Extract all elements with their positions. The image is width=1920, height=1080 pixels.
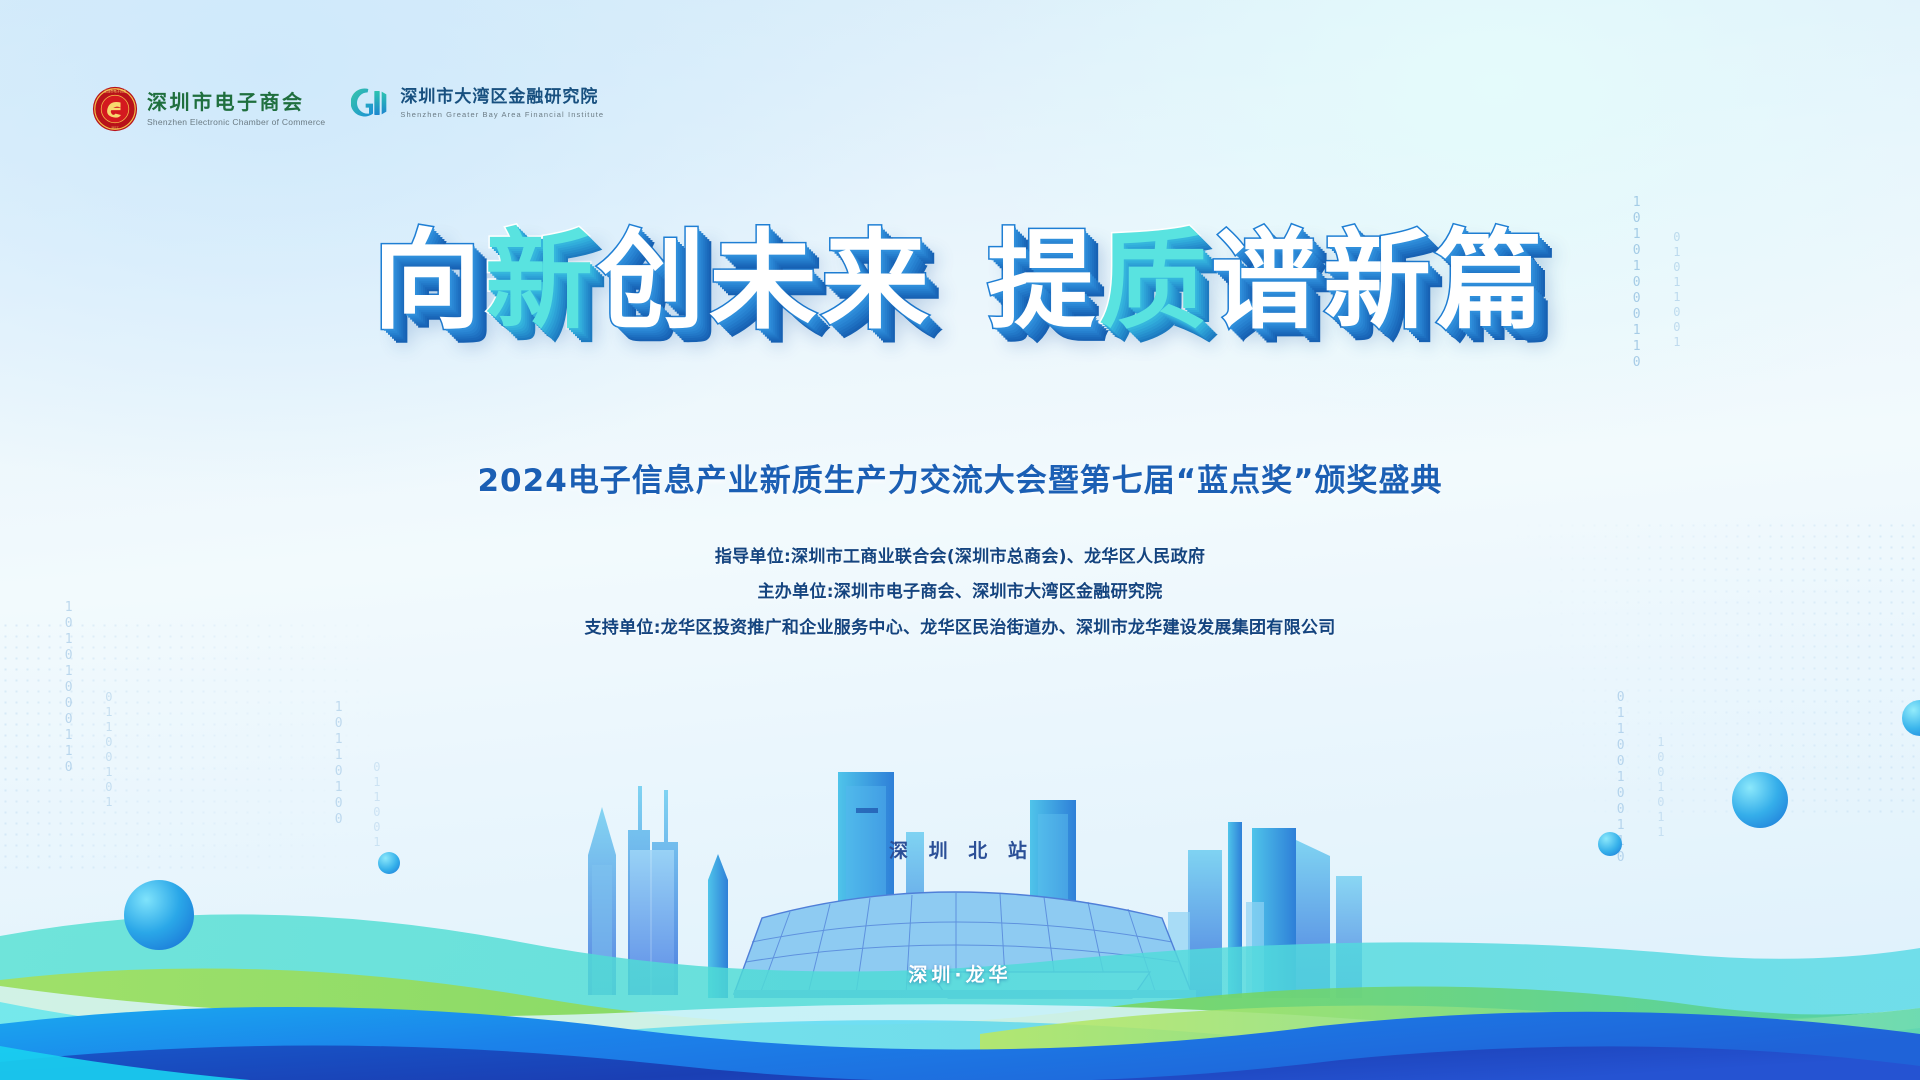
headline-segment-3: 创未来 (597, 228, 933, 336)
skyline-wave-illustration (0, 650, 1920, 1080)
logo-institute-name-cn: 深圳市大湾区金融研究院 (400, 87, 604, 107)
svg-text:SECC: SECC (111, 125, 118, 129)
city-label: 深圳·龙华 (0, 960, 1920, 987)
station-label: 深 圳 北 站 (889, 836, 1034, 863)
logo-shenzhen-electronic-chamber: 深圳市电子商会 SECC 深圳市电子商会 Shenzhen Electronic… (92, 86, 325, 132)
headline-segment-2: 新 (485, 228, 597, 336)
organizer-block: 指导单位:深圳市工商业联合会(深圳市总商会)、龙华区人民政府 主办单位:深圳市电… (0, 540, 1920, 646)
headline-segment-4: 提 (987, 228, 1099, 336)
headline-segment-1: 向 (373, 228, 485, 336)
logo-institute-name-en: Shenzhen Greater Bay Area Financial Inst… (400, 110, 604, 119)
logo-chamber-name-cn: 深圳市电子商会 (147, 91, 325, 115)
logo-chamber-name-en: Shenzhen Electronic Chamber of Commerce (147, 117, 325, 127)
svg-text:深圳市电子商会: 深圳市电子商会 (104, 88, 127, 93)
organizer-line-support: 支持单位:龙华区投资推广和企业服务中心、龙华区民治街道办、深圳市龙华建设发展集团… (0, 611, 1920, 646)
headline-segment-6: 谱新篇 (1211, 228, 1547, 336)
gbi-monogram-icon (351, 86, 391, 120)
logo-gba-financial-institute: 深圳市大湾区金融研究院 Shenzhen Greater Bay Area Fi… (351, 86, 604, 120)
organizer-line-host: 主办单位:深圳市电子商会、深圳市大湾区金融研究院 (0, 575, 1920, 610)
sponsor-logo-bar: 深圳市电子商会 SECC 深圳市电子商会 Shenzhen Electronic… (92, 86, 604, 132)
organizer-line-guidance: 指导单位:深圳市工商业联合会(深圳市总商会)、龙华区人民政府 (0, 540, 1920, 575)
page-subtitle: 2024电子信息产业新质生产力交流大会暨第七届“蓝点奖”颁奖盛典 (0, 455, 1920, 500)
chamber-seal-icon: 深圳市电子商会 SECC (92, 86, 138, 132)
poster-canvas: 10101000110 01100101 10110100 011001 101… (0, 0, 1920, 1080)
page-title: 向新创未来提质谱新篇 (0, 228, 1920, 336)
headline-segment-5: 质 (1099, 228, 1211, 336)
